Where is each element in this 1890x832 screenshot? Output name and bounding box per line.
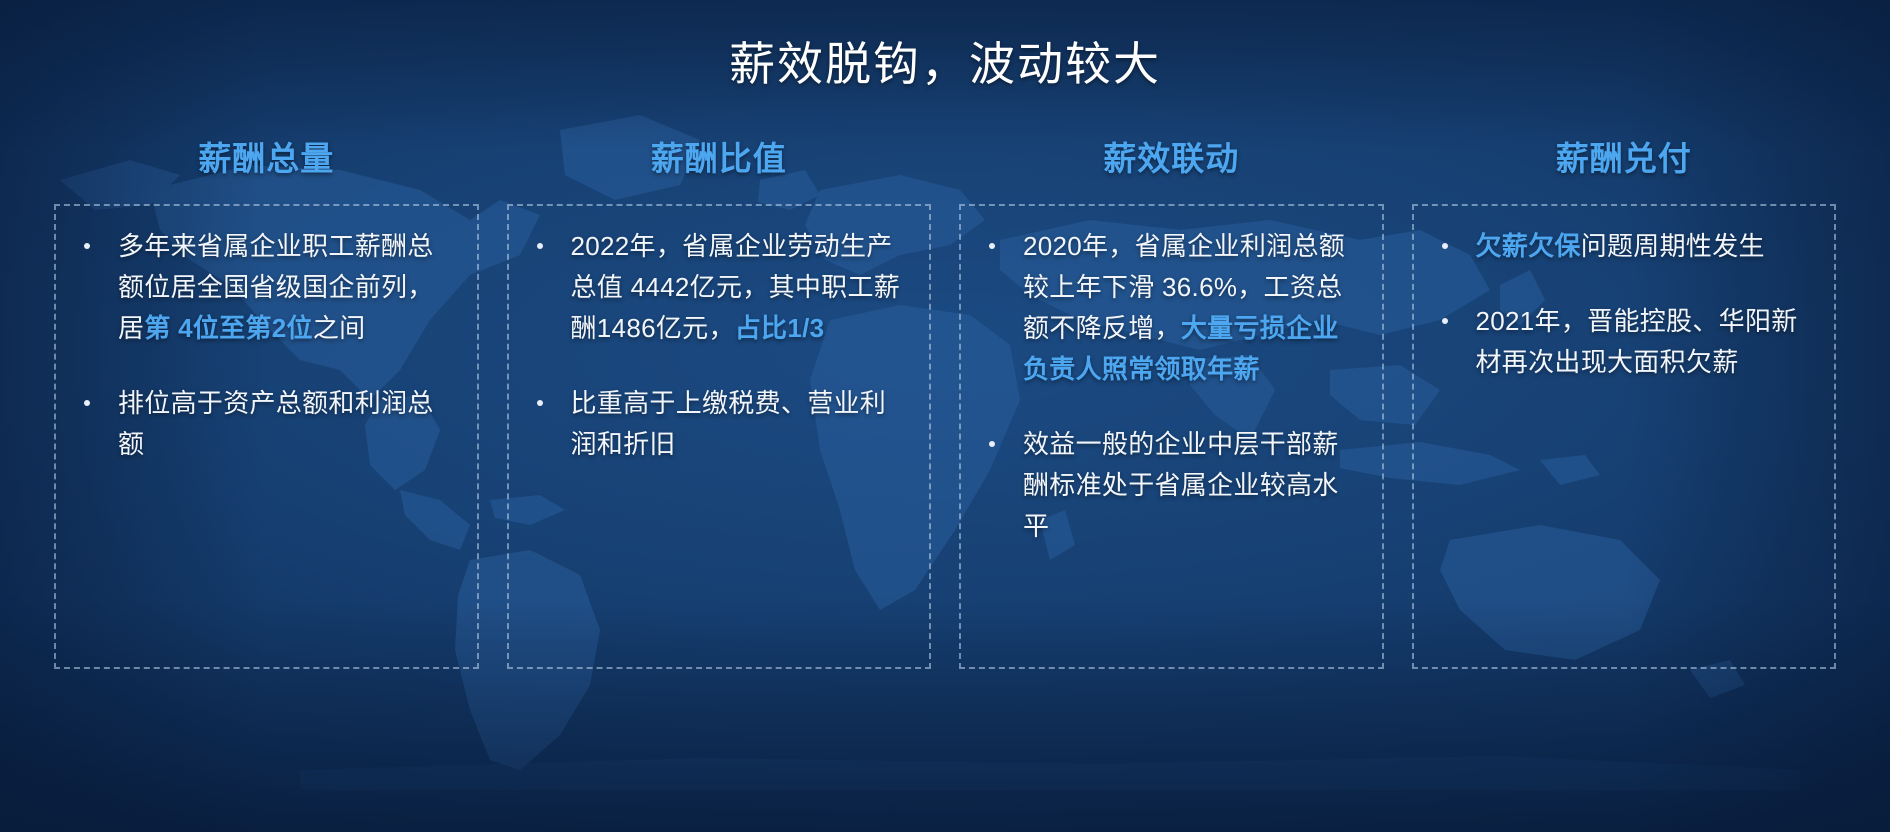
bullet-text-plain: 效益一般的企业中层干部薪酬标准处于省属企业较高水平: [1023, 429, 1339, 541]
bullet-text-plain: 问题周期性发生: [1581, 231, 1765, 261]
bullet-text-highlight: 第 4位至第2位: [144, 313, 313, 343]
bullet-text-plain: 排位高于资产总额和利润总额: [118, 388, 434, 459]
list-item: 2020年，省属企业利润总额较上年下滑 36.6%，工资总额不降反增，大量亏损企…: [971, 226, 1364, 390]
list-item: 2021年，晋能控股、华阳新材再次出现大面积欠薪: [1424, 301, 1817, 383]
column-1-heading: 薪酬总量: [198, 132, 334, 180]
list-item: 多年来省属企业职工薪酬总额位居全国省级国企前列，居第 4位至第2位之间: [66, 226, 459, 349]
list-item: 效益一般的企业中层干部薪酬标准处于省属企业较高水平: [971, 424, 1364, 547]
list-item: 排位高于资产总额和利润总额: [66, 383, 459, 465]
column-1-bullets: 多年来省属企业职工薪酬总额位居全国省级国企前列，居第 4位至第2位之间 排位高于…: [66, 226, 459, 465]
column-1: 薪酬总量 多年来省属企业职工薪酬总额位居全国省级国企前列，居第 4位至第2位之间…: [40, 132, 493, 772]
bullet-text-plain: 2021年，晋能控股、华阳新材再次出现大面积欠薪: [1476, 306, 1798, 377]
column-4-heading: 薪酬兑付: [1556, 132, 1692, 180]
list-item: 2022年，省属企业劳动生产总值 4442亿元，其中职工薪酬1486亿元，占比1…: [519, 226, 912, 349]
list-item: 比重高于上缴税费、营业利润和折旧: [519, 383, 912, 465]
column-4-card: 欠薪欠保问题周期性发生 2021年，晋能控股、华阳新材再次出现大面积欠薪: [1412, 204, 1837, 669]
bullet-text-highlight: 欠薪欠保: [1476, 231, 1581, 261]
bullet-text-plain: 比重高于上缴税费、营业利润和折旧: [571, 388, 887, 459]
column-2-card: 2022年，省属企业劳动生产总值 4442亿元，其中职工薪酬1486亿元，占比1…: [507, 204, 932, 669]
column-2-heading: 薪酬比值: [651, 132, 787, 180]
column-3-heading: 薪效联动: [1103, 132, 1239, 180]
column-2: 薪酬比值 2022年，省属企业劳动生产总值 4442亿元，其中职工薪酬1486亿…: [493, 132, 946, 772]
column-1-card: 多年来省属企业职工薪酬总额位居全国省级国企前列，居第 4位至第2位之间 排位高于…: [54, 204, 479, 669]
column-2-bullets: 2022年，省属企业劳动生产总值 4442亿元，其中职工薪酬1486亿元，占比1…: [519, 226, 912, 465]
column-3-card: 2020年，省属企业利润总额较上年下滑 36.6%，工资总额不降反增，大量亏损企…: [959, 204, 1384, 669]
column-4: 薪酬兑付 欠薪欠保问题周期性发生 2021年，晋能控股、华阳新材再次出现大面积欠…: [1398, 132, 1851, 772]
columns-container: 薪酬总量 多年来省属企业职工薪酬总额位居全国省级国企前列，居第 4位至第2位之间…: [0, 132, 1890, 772]
bullet-text-highlight: 占比1/3: [735, 313, 825, 343]
list-item: 欠薪欠保问题周期性发生: [1424, 226, 1817, 267]
page-title: 薪效脱钩，波动较大: [0, 28, 1890, 94]
bullet-text-plain: 之间: [313, 313, 366, 343]
column-4-bullets: 欠薪欠保问题周期性发生 2021年，晋能控股、华阳新材再次出现大面积欠薪: [1424, 226, 1817, 383]
column-3-bullets: 2020年，省属企业利润总额较上年下滑 36.6%，工资总额不降反增，大量亏损企…: [971, 226, 1364, 548]
column-3: 薪效联动 2020年，省属企业利润总额较上年下滑 36.6%，工资总额不降反增，…: [945, 132, 1398, 772]
